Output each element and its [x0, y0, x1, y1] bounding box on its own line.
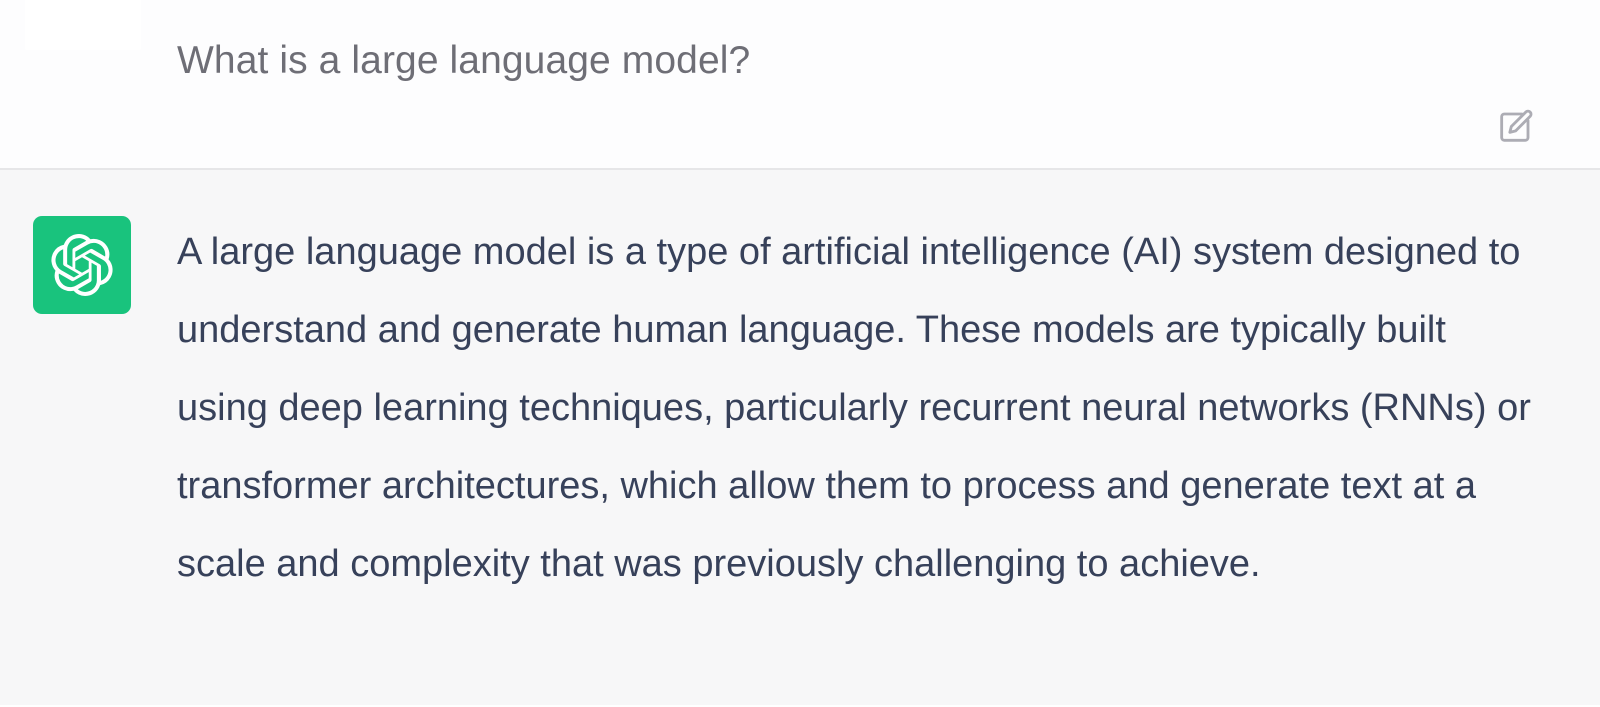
openai-logo-icon: [51, 234, 113, 296]
user-question-text: What is a large language model?: [177, 30, 1477, 92]
assistant-message-text: A large language model is a type of arti…: [177, 213, 1537, 603]
assistant-message-turn: A large language model is a type of arti…: [0, 170, 1600, 705]
edit-pencil-square-icon: [1495, 107, 1535, 147]
edit-message-button[interactable]: [1494, 106, 1536, 148]
user-message-turn: What is a large language model?: [0, 0, 1600, 170]
user-avatar: [25, 0, 141, 50]
assistant-avatar: [33, 216, 131, 314]
chat-conversation-view: What is a large language model? A large …: [0, 0, 1600, 707]
